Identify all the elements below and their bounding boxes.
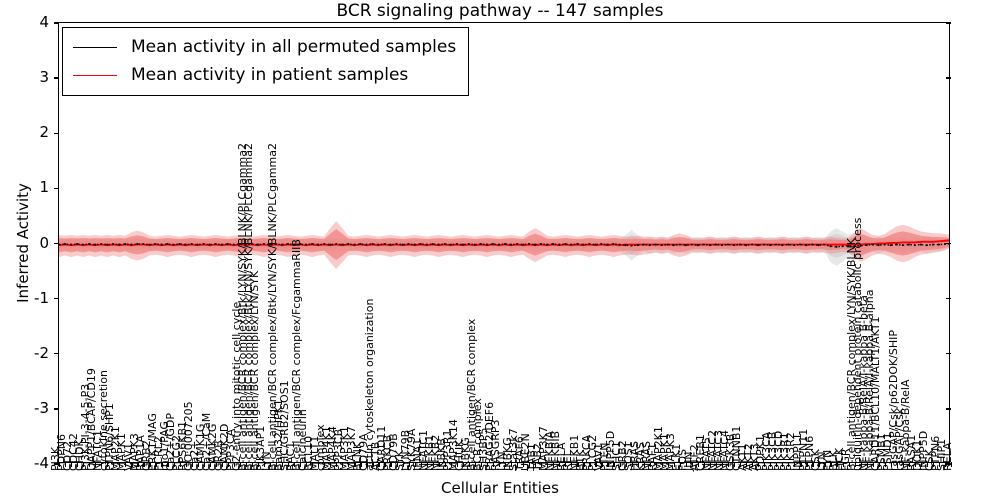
y-tick-label: 0	[0, 234, 49, 252]
chart-title: BCR signaling pathway -- 147 samples	[0, 0, 1000, 22]
data-point-marker	[76, 243, 78, 245]
y-tickmark-right	[946, 22, 951, 23]
data-point-marker	[673, 244, 675, 246]
data-point-marker	[148, 244, 150, 246]
data-point-marker	[498, 244, 500, 246]
data-point-marker	[347, 243, 349, 245]
data-point-marker	[383, 243, 385, 245]
data-point-marker	[534, 244, 536, 246]
data-point-marker	[257, 244, 259, 246]
data-point-marker	[866, 244, 868, 246]
y-tickmark	[54, 188, 59, 189]
data-point-marker	[426, 244, 428, 246]
data-point-marker	[317, 244, 319, 246]
y-tick-label: -2	[0, 344, 49, 362]
data-point-marker	[938, 244, 940, 246]
data-point-marker	[757, 244, 759, 246]
y-tickmark-right	[946, 77, 951, 78]
y-tickmark	[54, 408, 59, 409]
data-point-marker	[305, 244, 307, 246]
data-point-marker	[215, 243, 217, 245]
data-point-marker	[781, 244, 783, 246]
data-point-marker	[371, 243, 373, 245]
x-axis-label: Cellular Entities	[0, 479, 1000, 497]
data-point-marker	[811, 244, 813, 246]
data-point-marker	[624, 244, 626, 246]
data-point-marker	[793, 244, 795, 246]
data-point-marker	[745, 244, 747, 246]
data-point-marker	[697, 244, 699, 246]
data-point-marker	[516, 243, 518, 245]
data-point-marker	[420, 243, 422, 245]
y-tick-label: 4	[0, 13, 49, 31]
data-point-marker	[841, 245, 843, 247]
data-point-marker	[631, 245, 633, 247]
data-point-marker	[154, 243, 156, 245]
data-point-marker	[329, 244, 331, 246]
data-point-marker	[606, 244, 608, 246]
data-point-marker	[685, 244, 687, 246]
data-point-marker	[287, 243, 289, 245]
data-point-marker	[552, 243, 554, 245]
data-point-marker	[124, 243, 126, 245]
y-tick-label: -1	[0, 289, 49, 307]
data-point-marker	[474, 244, 476, 246]
data-point-marker	[763, 244, 765, 246]
data-point-marker	[878, 244, 880, 246]
data-point-marker	[353, 244, 355, 246]
data-point-marker	[444, 243, 446, 245]
data-point-marker	[908, 244, 910, 246]
chart-legend: Mean activity in all permuted samples Me…	[62, 27, 469, 96]
data-point-marker	[221, 244, 223, 246]
data-point-marker	[588, 243, 590, 245]
data-point-marker	[341, 244, 343, 246]
y-tick-label: 2	[0, 123, 49, 141]
data-point-marker	[582, 244, 584, 246]
data-point-marker	[197, 244, 199, 246]
data-point-marker	[166, 243, 168, 245]
legend-item-permuted: Mean activity in all permuted samples	[73, 33, 456, 61]
data-point-marker	[468, 243, 470, 245]
y-tick-label: 3	[0, 68, 49, 86]
data-point-marker	[160, 244, 162, 246]
data-point-marker	[805, 244, 807, 246]
data-point-marker	[667, 244, 669, 246]
x-category-label: RELA	[942, 443, 953, 472]
y-tickmark	[54, 133, 59, 134]
data-point-marker	[896, 244, 898, 246]
data-point-marker	[142, 243, 144, 245]
data-point-marker	[835, 246, 837, 248]
data-point-marker	[209, 244, 211, 246]
data-point-marker	[510, 244, 512, 246]
data-point-marker	[612, 243, 614, 245]
data-point-marker	[130, 244, 132, 246]
data-point-marker	[679, 244, 681, 246]
data-point-marker	[456, 243, 458, 245]
legend-label-patient: Mean activity in patient samples	[131, 65, 408, 85]
data-point-marker	[649, 244, 651, 246]
data-point-marker	[389, 244, 391, 246]
data-point-marker	[769, 244, 771, 246]
data-point-marker	[82, 244, 84, 246]
data-point-marker	[281, 244, 283, 246]
data-point-marker	[703, 244, 705, 246]
data-point-marker	[118, 244, 120, 246]
data-point-marker	[739, 244, 741, 246]
data-point-marker	[727, 244, 729, 246]
data-point-marker	[359, 243, 361, 245]
data-point-marker	[377, 244, 379, 246]
data-point-marker	[643, 244, 645, 246]
data-point-marker	[522, 244, 524, 246]
legend-swatch-patient	[73, 75, 117, 76]
legend-label-permuted: Mean activity in all permuted samples	[131, 37, 456, 57]
data-point-marker	[88, 243, 90, 245]
data-point-marker	[504, 243, 506, 245]
data-point-marker	[263, 243, 265, 245]
data-point-marker	[570, 244, 572, 246]
data-point-marker	[787, 244, 789, 246]
data-point-marker	[335, 243, 337, 245]
data-point-marker	[172, 244, 174, 246]
data-point-marker	[227, 243, 229, 245]
data-point-marker	[558, 244, 560, 246]
data-point-marker	[926, 244, 928, 246]
data-point-marker	[178, 243, 180, 245]
data-point-marker	[817, 244, 819, 246]
data-point-marker	[655, 244, 657, 246]
data-point-marker	[203, 243, 205, 245]
data-point-marker	[191, 243, 193, 245]
data-point-marker	[401, 244, 403, 246]
data-point-marker	[185, 244, 187, 246]
y-tickmark	[54, 298, 59, 299]
data-point-marker	[323, 243, 325, 245]
data-point-marker	[233, 244, 235, 246]
data-point-marker	[775, 244, 777, 246]
data-point-marker	[486, 244, 488, 246]
y-tickmark-right	[946, 188, 951, 189]
data-point-marker	[799, 244, 801, 246]
data-point-marker	[594, 244, 596, 246]
data-point-marker	[564, 243, 566, 245]
data-point-marker	[106, 244, 108, 246]
data-point-marker	[136, 243, 138, 245]
data-point-marker	[733, 244, 735, 246]
data-point-marker	[914, 244, 916, 246]
data-point-marker	[438, 244, 440, 246]
data-point-marker	[462, 244, 464, 246]
data-point-marker	[528, 243, 530, 245]
data-point-marker	[721, 244, 723, 246]
data-point-marker	[540, 243, 542, 245]
data-point-marker	[395, 243, 397, 245]
chart-root: BCR signaling pathway -- 147 samples Inf…	[0, 0, 1000, 500]
data-point-marker	[920, 244, 922, 246]
data-point-marker	[112, 243, 114, 245]
data-point-marker	[64, 243, 66, 245]
data-point-marker	[691, 244, 693, 246]
data-point-marker	[311, 243, 313, 245]
data-point-marker	[715, 244, 717, 246]
y-tickmark-right	[946, 353, 951, 354]
y-tickmark-right	[946, 243, 951, 244]
data-point-marker	[94, 244, 96, 246]
legend-swatch-permuted	[73, 47, 117, 48]
data-point-marker	[492, 243, 494, 245]
y-tickmark-right	[946, 408, 951, 409]
data-point-marker	[546, 244, 548, 246]
data-point-marker	[432, 243, 434, 245]
data-point-marker	[480, 243, 482, 245]
data-point-marker	[829, 245, 831, 247]
data-point-marker	[365, 244, 367, 246]
y-tick-label: 1	[0, 178, 49, 196]
data-point-marker	[414, 244, 416, 246]
data-point-marker	[618, 244, 620, 246]
y-tickmark	[54, 243, 59, 244]
data-point-marker	[70, 244, 72, 246]
data-point-marker	[872, 244, 874, 246]
y-tick-label: -4	[0, 454, 49, 472]
data-point-marker	[709, 244, 711, 246]
data-point-marker	[902, 244, 904, 246]
data-point-marker	[600, 243, 602, 245]
data-point-marker	[661, 244, 663, 246]
data-point-marker	[637, 244, 639, 246]
data-point-marker	[823, 244, 825, 246]
data-point-marker	[890, 244, 892, 246]
data-point-marker	[450, 244, 452, 246]
y-tick-label: -3	[0, 399, 49, 417]
y-tickmark	[54, 22, 59, 23]
y-tickmark-right	[946, 133, 951, 134]
data-point-marker	[884, 244, 886, 246]
data-point-marker	[100, 243, 102, 245]
y-tickmark-right	[946, 298, 951, 299]
data-point-marker	[576, 243, 578, 245]
legend-item-patient: Mean activity in patient samples	[73, 61, 456, 89]
data-point-marker	[408, 243, 410, 245]
data-point-marker	[751, 244, 753, 246]
data-point-marker	[932, 244, 934, 246]
y-tickmark	[54, 77, 59, 78]
y-tickmark	[54, 353, 59, 354]
